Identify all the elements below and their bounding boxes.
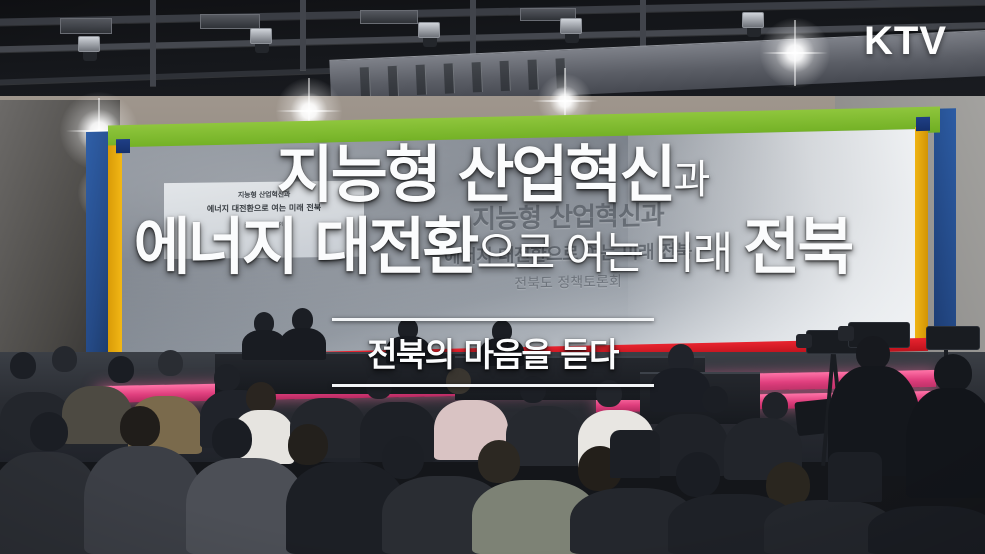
headline-line-1: 지능형 산업혁신과 xyxy=(0,144,985,206)
headline-line-2-bold-b: 전북 xyxy=(743,210,851,283)
headline-line-1-particle: 과 xyxy=(674,157,709,203)
headline-line-2-bold-a: 에너지 대전환 xyxy=(134,210,477,283)
subtitle-text: 전북의 마음을 듣다 xyxy=(0,328,985,376)
broadcast-frame: 지능형 산업혁신과 에너지 대전환으로 여는 미래 전북 전북도 정책토론회 지… xyxy=(0,0,985,554)
subtitle-rule-bottom xyxy=(332,384,654,387)
headline-line-1-bold: 지능형 산업혁신 xyxy=(277,138,674,211)
channel-logo: KTV xyxy=(864,19,947,64)
headline-line-2-light-a: 으로 여는 xyxy=(476,228,642,279)
headline-line-2-light-b: 미래 xyxy=(642,228,743,279)
headline-line-2: 에너지 대전환으로 여는 미래 전북 xyxy=(0,216,985,278)
headline-block: 지능형 산업혁신과 에너지 대전환으로 여는 미래 전북 xyxy=(0,144,985,278)
subtitle-block: 전북의 마음을 듣다 xyxy=(0,318,985,387)
graphics-overlay: 지능형 산업혁신과 에너지 대전환으로 여는 미래 전북 전북의 마음을 듣다 … xyxy=(0,0,985,554)
subtitle-rule-top xyxy=(332,318,654,321)
